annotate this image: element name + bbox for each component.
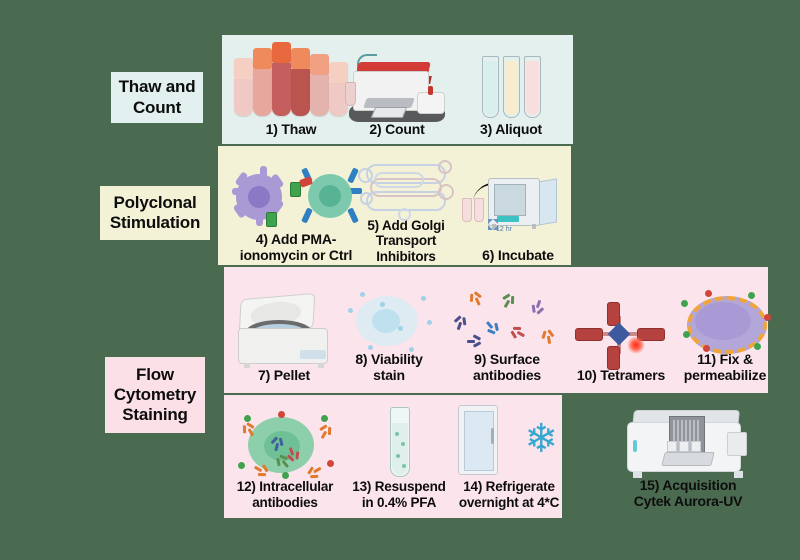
antibodies-icon (448, 284, 566, 352)
step-3-caption: 3) Aliquot (480, 122, 542, 138)
section-label-thaw-and-count: Thaw and Count (111, 72, 203, 123)
step-10-caption: 10) Tetramers (577, 368, 665, 384)
step-6-incubate: 12 hr 6) Incubate (462, 152, 574, 264)
centrifuge-icon (228, 290, 340, 368)
stimulated-cells-icon (222, 164, 370, 232)
incubation-duration: 12 hr (496, 226, 512, 233)
section-label-polyclonal-stimulation: Polyclonal Stimulation (100, 186, 210, 240)
step-12-intracellular-antibodies: 12) Intracellular antibodies (222, 400, 348, 510)
step-7-pellet: 7) Pellet (228, 272, 340, 384)
step-4-caption: 4) Add PMA- ionomycin or Ctrl (240, 232, 353, 264)
section-label-text: Polyclonal Stimulation (110, 193, 200, 233)
step-2-count: 2) Count (338, 40, 456, 138)
blood-collection-tubes-icon (228, 50, 354, 122)
step-13-caption: 13) Resuspend in 0.4% PFA (352, 479, 445, 510)
flow-cytometer-icon (598, 402, 778, 478)
section-label-flow-cytometry-staining: Flow Cytometry Staining (105, 357, 205, 433)
step-9-surface-antibodies: 9) Surface antibodies (448, 272, 566, 384)
step-11-fix-and-permeabilize: 11) Fix & permeabilize (676, 272, 774, 384)
snowflake-icon: ❄ (524, 419, 558, 459)
refrigerator-icon: ❄ (450, 405, 568, 479)
step-4-add-pma-ionomycin: 4) Add PMA- ionomycin or Ctrl (222, 152, 370, 264)
cell-counter-instrument-icon (338, 50, 456, 122)
tetramer-icon (568, 294, 674, 368)
step-5-caption: 5) Add Golgi Transport Inhibitors (367, 218, 444, 264)
workflow-diagram: Thaw and Count Polyclonal Stimulation Fl… (0, 0, 800, 560)
aliquot-tubes-icon (452, 50, 570, 122)
step-8-caption: 8) Viability stain (355, 352, 422, 384)
step-14-refrigerate: ❄ 14) Refrigerate overnight at 4*C (450, 400, 568, 510)
step-14-caption: 14) Refrigerate overnight at 4*C (459, 479, 559, 510)
step-10-tetramers: 10) Tetramers (568, 272, 674, 384)
step-15-caption: 15) Acquisition Cytek Aurora-UV (634, 478, 743, 510)
stained-cell-icon (336, 284, 442, 352)
golgi-apparatus-icon (352, 156, 460, 218)
section-label-text: Flow Cytometry Staining (114, 365, 196, 425)
step-1-thaw: 1) Thaw (228, 40, 354, 138)
section-label-text: Thaw and Count (119, 77, 196, 117)
step-11-caption: 11) Fix & permeabilize (684, 352, 766, 384)
step-1-caption: 1) Thaw (266, 122, 317, 138)
pfa-tube-icon (344, 407, 454, 479)
step-5-add-golgi-transport-inhibitors: 5) Add Golgi Transport Inhibitors (352, 152, 460, 264)
step-13-resuspend-in-pfa: 13) Resuspend in 0.4% PFA (344, 400, 454, 510)
permeabilized-cell-icon (676, 284, 774, 352)
intracellular-stained-cell-icon (222, 407, 348, 479)
incubator-icon: 12 hr (462, 172, 574, 248)
step-3-aliquot: 3) Aliquot (452, 40, 570, 138)
step-7-caption: 7) Pellet (258, 368, 310, 384)
step-2-caption: 2) Count (369, 122, 424, 138)
step-15-acquisition: 15) Acquisition Cytek Aurora-UV (598, 398, 778, 510)
step-6-caption: 6) Incubate (482, 248, 554, 264)
step-9-caption: 9) Surface antibodies (473, 352, 541, 384)
step-12-caption: 12) Intracellular antibodies (237, 479, 333, 510)
step-8-viability-stain: 8) Viability stain (336, 272, 442, 384)
